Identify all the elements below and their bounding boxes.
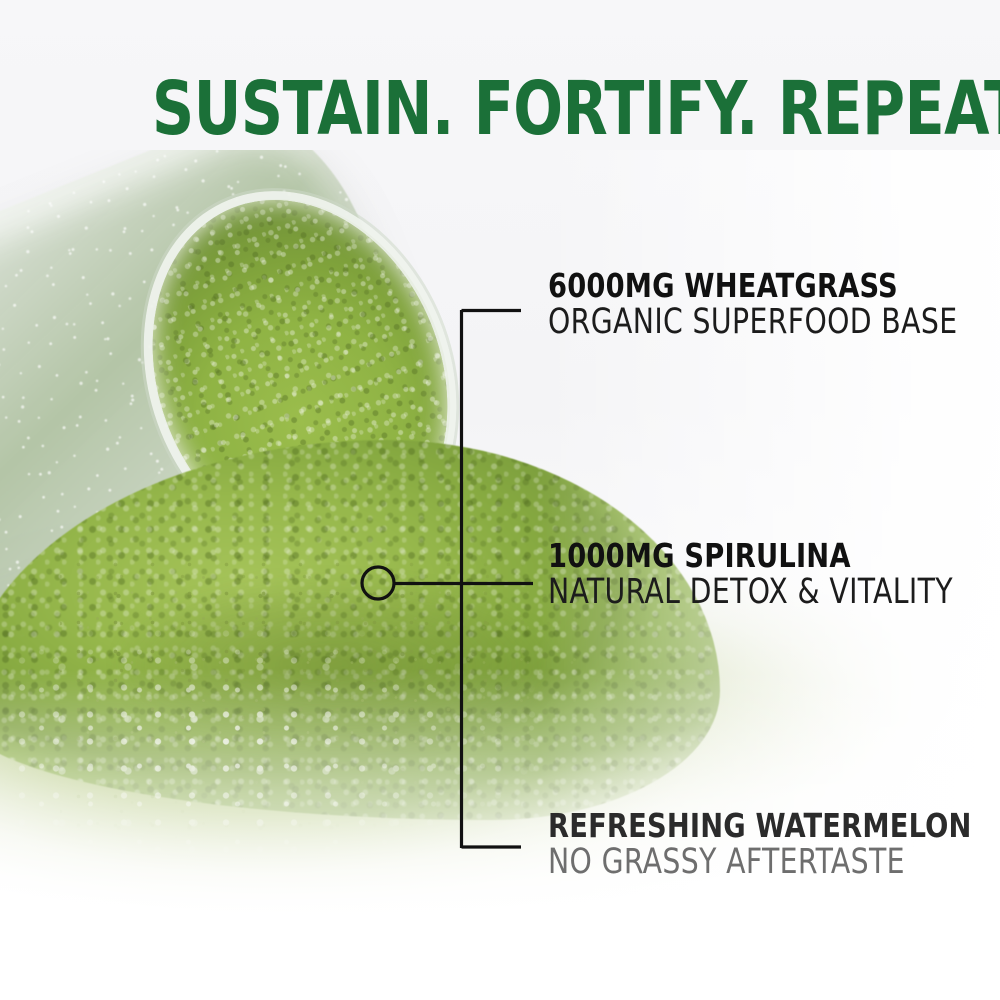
callout-wheatgrass: 6000MG WHEATGRASS ORGANIC SUPERFOOD BASE: [548, 268, 1000, 341]
callout-wheatgrass-subline: ORGANIC SUPERFOOD BASE: [548, 303, 957, 341]
infographic-canvas: SUSTAIN. FORTIFY. REPEAT. 6000MG WHEATGR…: [0, 0, 1000, 1000]
callout-spirulina: 1000MG SPIRULINA NATURAL DETOX & VITALIT…: [548, 538, 998, 611]
callout-watermelon: REFRESHING WATERMELON NO GRASSY AFTERTAS…: [548, 808, 1000, 881]
page-title: SUSTAIN. FORTIFY. REPEAT.: [152, 72, 1000, 146]
callout-spirulina-subline: NATURAL DETOX & VITALITY: [548, 573, 953, 611]
callout-wheatgrass-headline: 6000MG WHEATGRASS: [548, 268, 967, 303]
callout-watermelon-headline: REFRESHING WATERMELON: [548, 808, 972, 843]
callout-spirulina-headline: 1000MG SPIRULINA: [548, 538, 962, 573]
callout-watermelon-subline: NO GRASSY AFTERTASTE: [548, 843, 962, 881]
